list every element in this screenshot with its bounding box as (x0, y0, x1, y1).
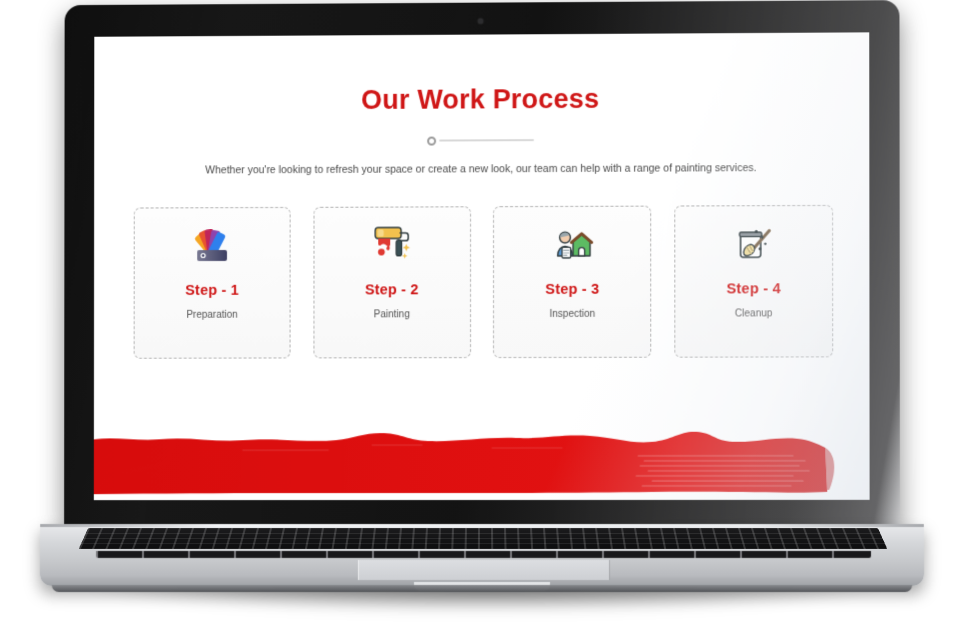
step-name-label: Inspection (550, 309, 596, 320)
step-number-label: Step - 1 (185, 283, 239, 299)
screenshot-stage: Our Work Process Whether you're looking … (0, 0, 962, 629)
step-number-label: Step - 3 (545, 282, 599, 298)
webcam-icon (478, 19, 483, 24)
step-number-label: Step - 4 (726, 281, 780, 297)
keyboard-keys (79, 528, 888, 549)
step-name-label: Preparation (186, 310, 237, 321)
divider-line (439, 139, 534, 142)
laptop-base (40, 524, 924, 586)
laptop-mockup: Our Work Process Whether you're looking … (0, 0, 962, 629)
page-subtitle: Whether you're looking to refresh your s… (132, 161, 831, 179)
step-card-4[interactable]: Step - 4 Cleanup (674, 205, 833, 358)
step-card-1[interactable]: Step - 1 Preparation (134, 207, 291, 359)
laptop-screen: Our Work Process Whether you're looking … (94, 32, 870, 500)
trackpad[interactable] (358, 560, 610, 580)
red-paint-brush-stroke (94, 428, 870, 501)
base-top-edge (40, 524, 924, 527)
keyboard-bottom-row (96, 551, 871, 558)
keyboard[interactable] (79, 528, 888, 549)
divider-circle-icon (427, 136, 436, 145)
page-title: Our Work Process (94, 82, 869, 117)
step-number-label: Step - 2 (365, 282, 419, 298)
broom-bucket-icon (730, 221, 776, 267)
step-name-label: Cleanup (735, 308, 772, 319)
step-card-3[interactable]: Step - 3 Inspection (493, 206, 651, 358)
inspector-house-icon (549, 222, 595, 268)
paint-roller-icon (369, 222, 415, 268)
website-page: Our Work Process Whether you're looking … (94, 32, 870, 500)
laptop-lid: Our Work Process Whether you're looking … (64, 0, 900, 530)
base-bottom-edge (52, 585, 912, 592)
step-card-2[interactable]: Step - 2 Painting (313, 206, 471, 358)
step-name-label: Painting (374, 309, 410, 320)
color-swatch-fan-icon (189, 223, 235, 269)
process-steps-list: Step - 1 Preparation (134, 205, 834, 359)
section-divider (94, 131, 869, 150)
